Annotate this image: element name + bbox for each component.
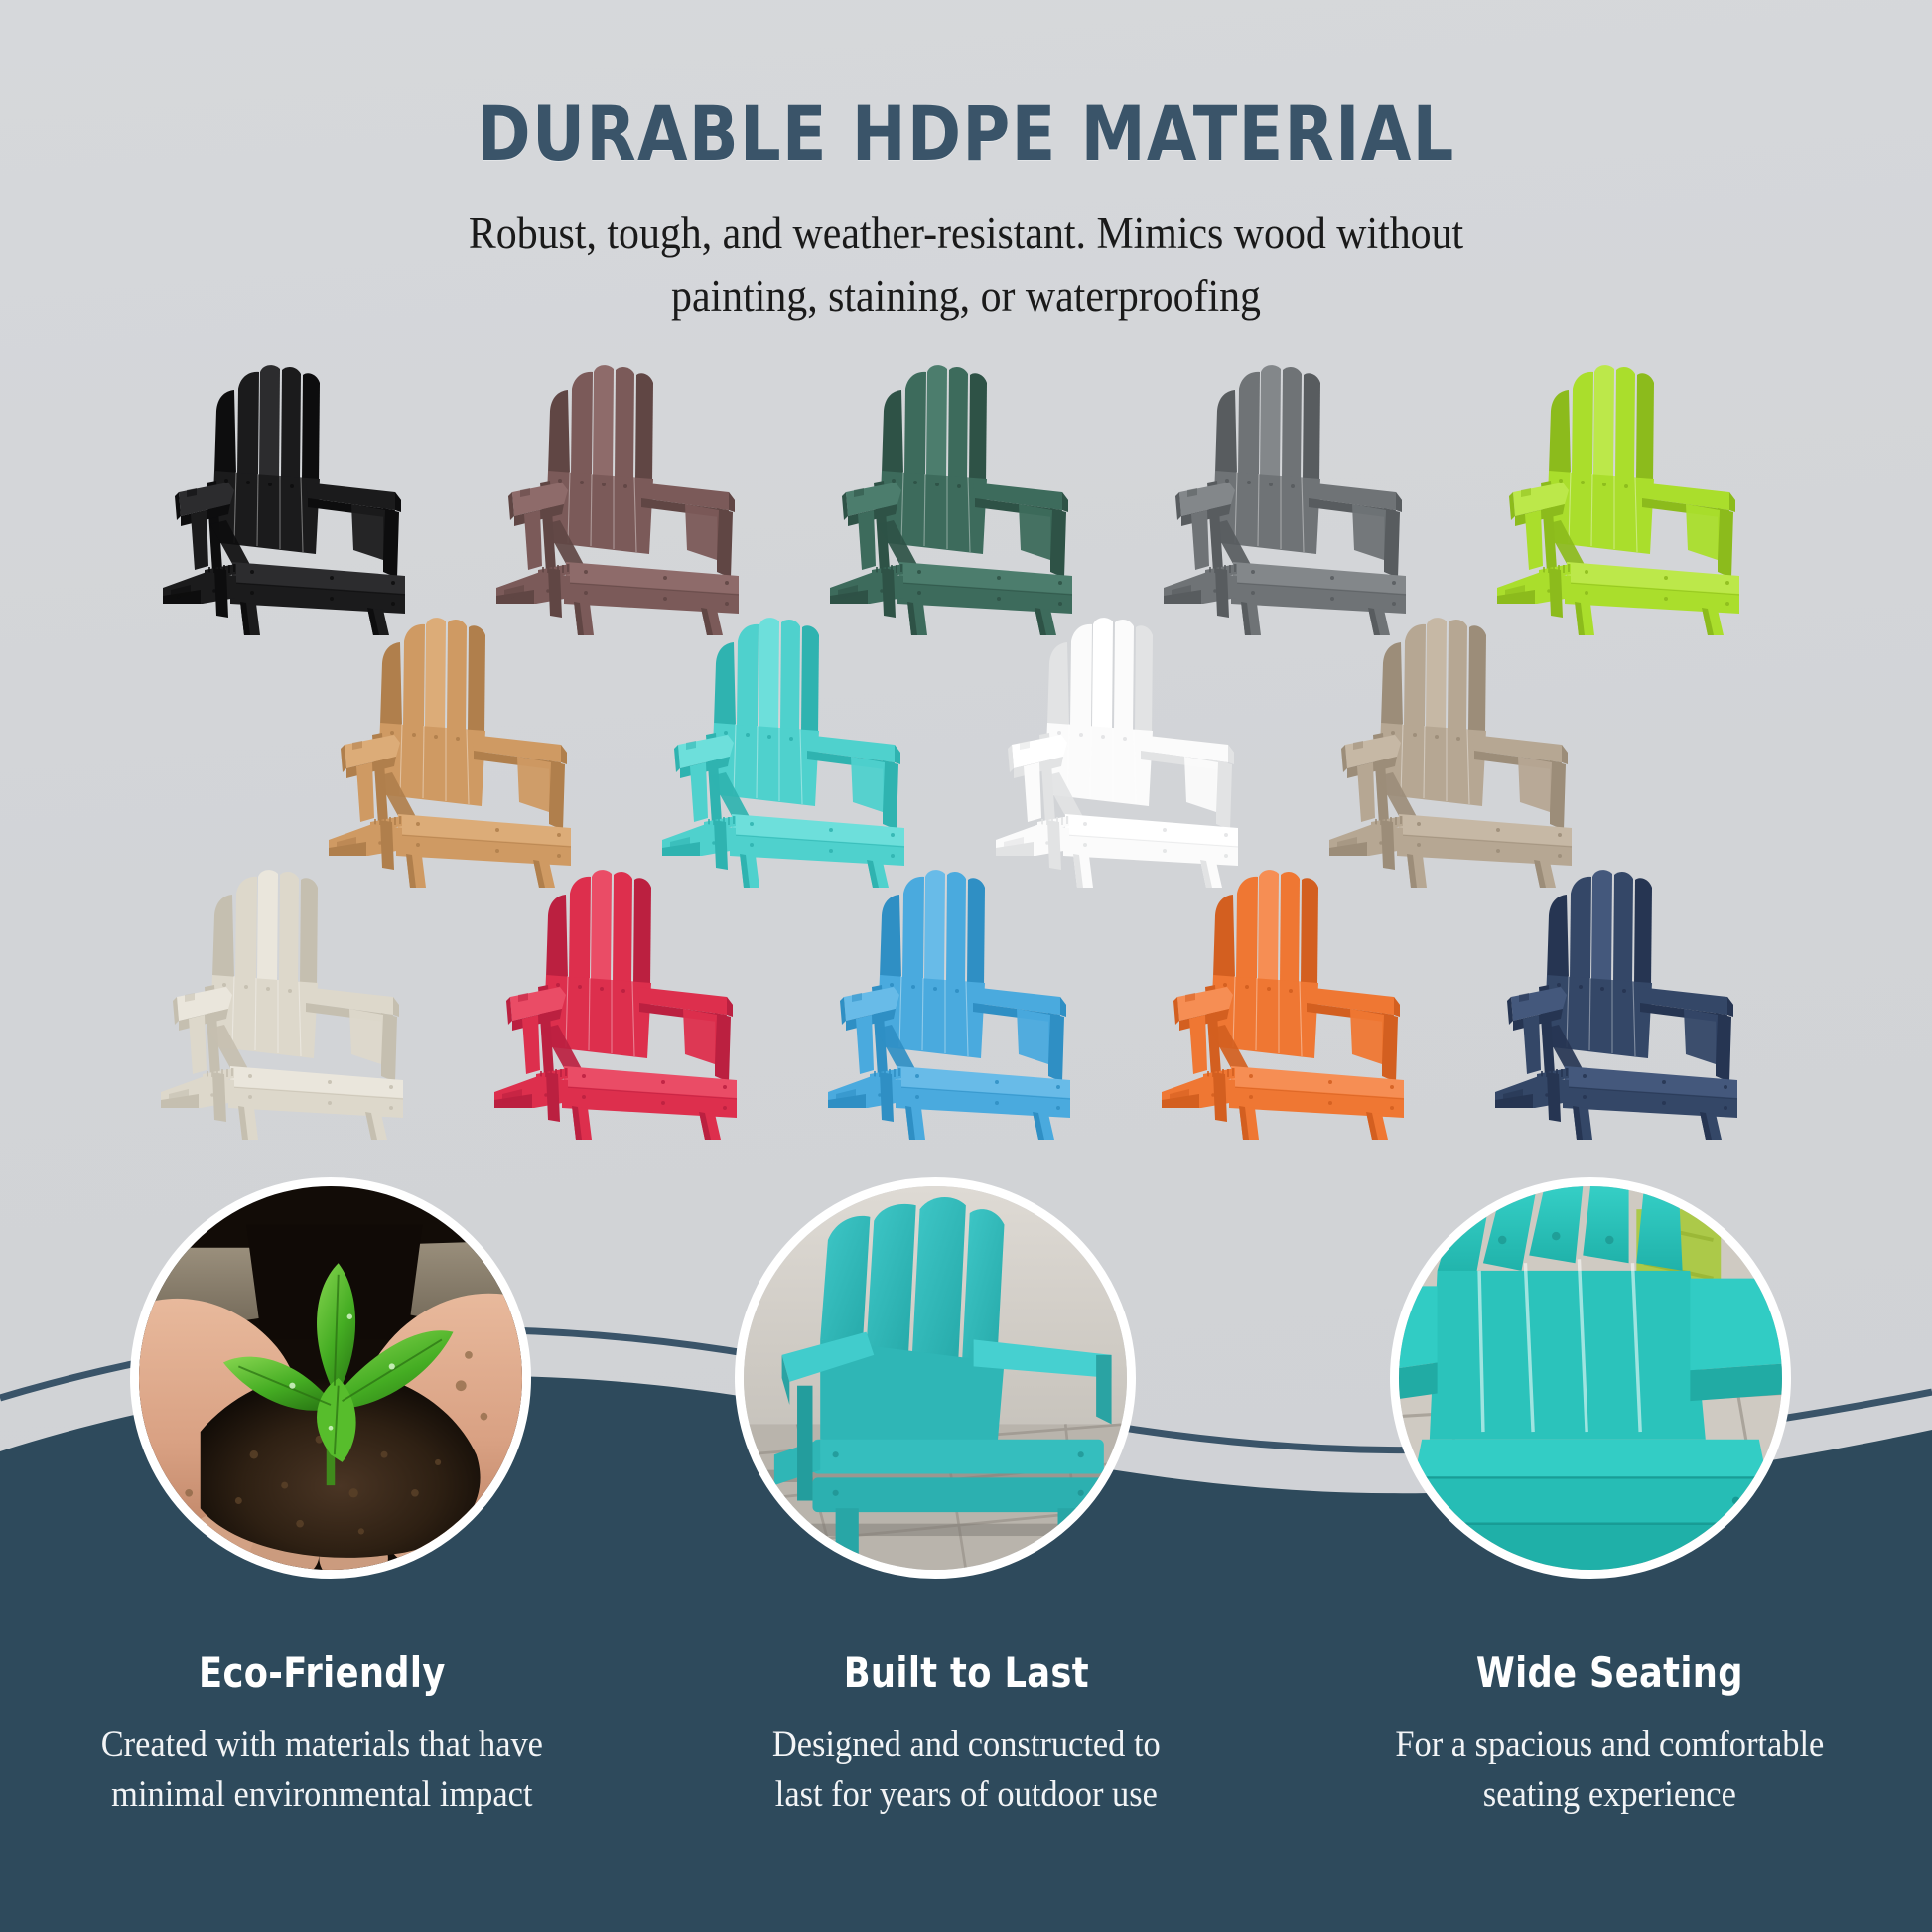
feature-built-to-last: Built to Last Designed and constructed t… <box>644 1648 1289 1819</box>
durable-photo <box>735 1177 1136 1579</box>
eco-photo <box>130 1177 531 1579</box>
feature-wide-seating: Wide Seating For a spacious and comforta… <box>1288 1648 1932 1819</box>
feature-desc-line-2: minimal environmental impact <box>54 1770 590 1820</box>
chair-color-grid <box>0 365 1932 1140</box>
chair-row-2 <box>2 618 1932 888</box>
subtitle-line-2: painting, staining, or waterproofing <box>306 265 1626 329</box>
chair-swatch-white[interactable] <box>990 618 1278 888</box>
seating-photo <box>1390 1177 1791 1579</box>
chair-swatch-navy[interactable] <box>1489 870 1777 1140</box>
chair-row-3 <box>0 870 1932 1140</box>
feature-desc-line-2: last for years of outdoor use <box>698 1770 1234 1820</box>
feature-title: Wide Seating <box>1368 1648 1853 1697</box>
chair-swatch-teak[interactable] <box>323 618 611 888</box>
chair-swatch-red[interactable] <box>488 870 776 1140</box>
feature-description: Designed and constructed to last for yea… <box>698 1721 1234 1819</box>
chair-swatch-light-blue[interactable] <box>822 870 1110 1140</box>
chair-swatch-gray[interactable] <box>1158 365 1446 635</box>
chair-row-1 <box>4 365 1932 635</box>
feature-desc-line-1: Designed and constructed to <box>698 1721 1234 1770</box>
feature-eco-friendly: Eco-Friendly Created with materials that… <box>0 1648 644 1819</box>
header: DURABLE HDPE MATERIAL Robust, tough, and… <box>0 95 1932 329</box>
feature-title: Built to Last <box>724 1648 1208 1697</box>
infographic-page: DURABLE HDPE MATERIAL Robust, tough, and… <box>0 0 1932 1932</box>
chair-swatch-orange[interactable] <box>1156 870 1444 1140</box>
feature-desc-line-1: Created with materials that have <box>54 1721 590 1770</box>
feature-description: For a spacious and comfortable seating e… <box>1342 1721 1878 1819</box>
page-subtitle: Robust, tough, and weather-resistant. Mi… <box>306 203 1626 330</box>
feature-title: Eco-Friendly <box>79 1648 564 1697</box>
chair-swatch-turquoise[interactable] <box>656 618 944 888</box>
feature-list: Eco-Friendly Created with materials that… <box>0 1648 1932 1819</box>
chair-swatch-black[interactable] <box>157 365 445 635</box>
feature-desc-line-1: For a spacious and comfortable <box>1342 1721 1878 1770</box>
chair-swatch-brown[interactable] <box>490 365 778 635</box>
chair-swatch-lime[interactable] <box>1491 365 1779 635</box>
chair-swatch-ivory[interactable] <box>155 870 443 1140</box>
photo-circles <box>0 1177 1932 1594</box>
feature-description: Created with materials that have minimal… <box>54 1721 590 1819</box>
subtitle-line-1: Robust, tough, and weather-resistant. Mi… <box>306 203 1626 266</box>
feature-desc-line-2: seating experience <box>1342 1770 1878 1820</box>
chair-swatch-dark-green[interactable] <box>824 365 1112 635</box>
chair-swatch-taupe[interactable] <box>1323 618 1611 888</box>
page-title: DURABLE HDPE MATERIAL <box>135 95 1797 173</box>
